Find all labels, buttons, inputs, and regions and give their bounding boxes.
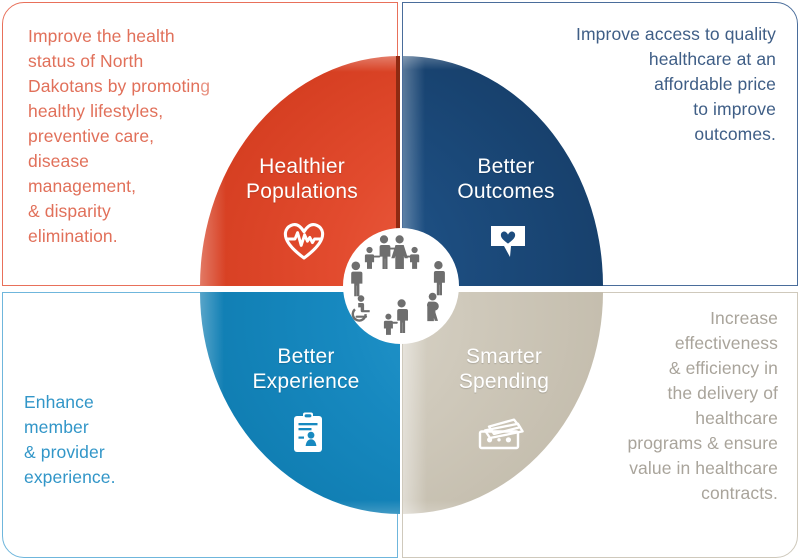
center-people-circle [343,228,459,344]
money-banknotes-icon [477,418,527,457]
label-smarter-spending: Smarter Spending [420,345,588,395]
clipboard-person-icon [291,412,325,459]
label-better-outcomes: Better Outcomes [424,155,588,205]
label-healthier-populations: Healthier Populations [214,155,390,205]
quadruple-aim-diagram: Improve the health status of North Dakot… [0,0,800,560]
description-healthier-populations: Improve the health status of North Dakot… [28,24,224,249]
speech-bubble-heart-icon [489,224,527,265]
label-better-experience: Better Experience [218,345,394,395]
people-circle-icon [343,228,459,344]
heart-pulse-icon [283,222,325,265]
description-better-experience: Enhance member & provider experience. [24,390,214,490]
